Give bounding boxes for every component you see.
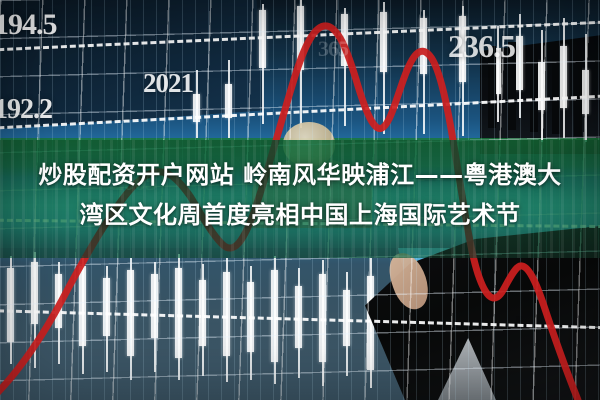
headline-line-2: 湾区文化周首度亮相中国上海国际艺术节 <box>0 195 600 235</box>
headline: 炒股配资开户网站 岭南风华映浦江——粤港澳大 湾区文化周首度亮相中国上海国际艺术… <box>0 155 600 235</box>
banner-image: 194.5 192.2 2021 236.5 2005 365 炒股配资开户网站… <box>0 0 600 400</box>
headline-line-1: 炒股配资开户网站 岭南风华映浦江——粤港澳大 <box>0 155 600 195</box>
chart-label-192-2: 192.2 <box>0 94 52 126</box>
chart-label-2021: 2021 <box>143 68 193 99</box>
chart-label-236-5: 236.5 <box>448 28 515 65</box>
chart-label-194-5: 194.5 <box>0 8 57 42</box>
chart-label-365: 365 <box>318 36 348 62</box>
